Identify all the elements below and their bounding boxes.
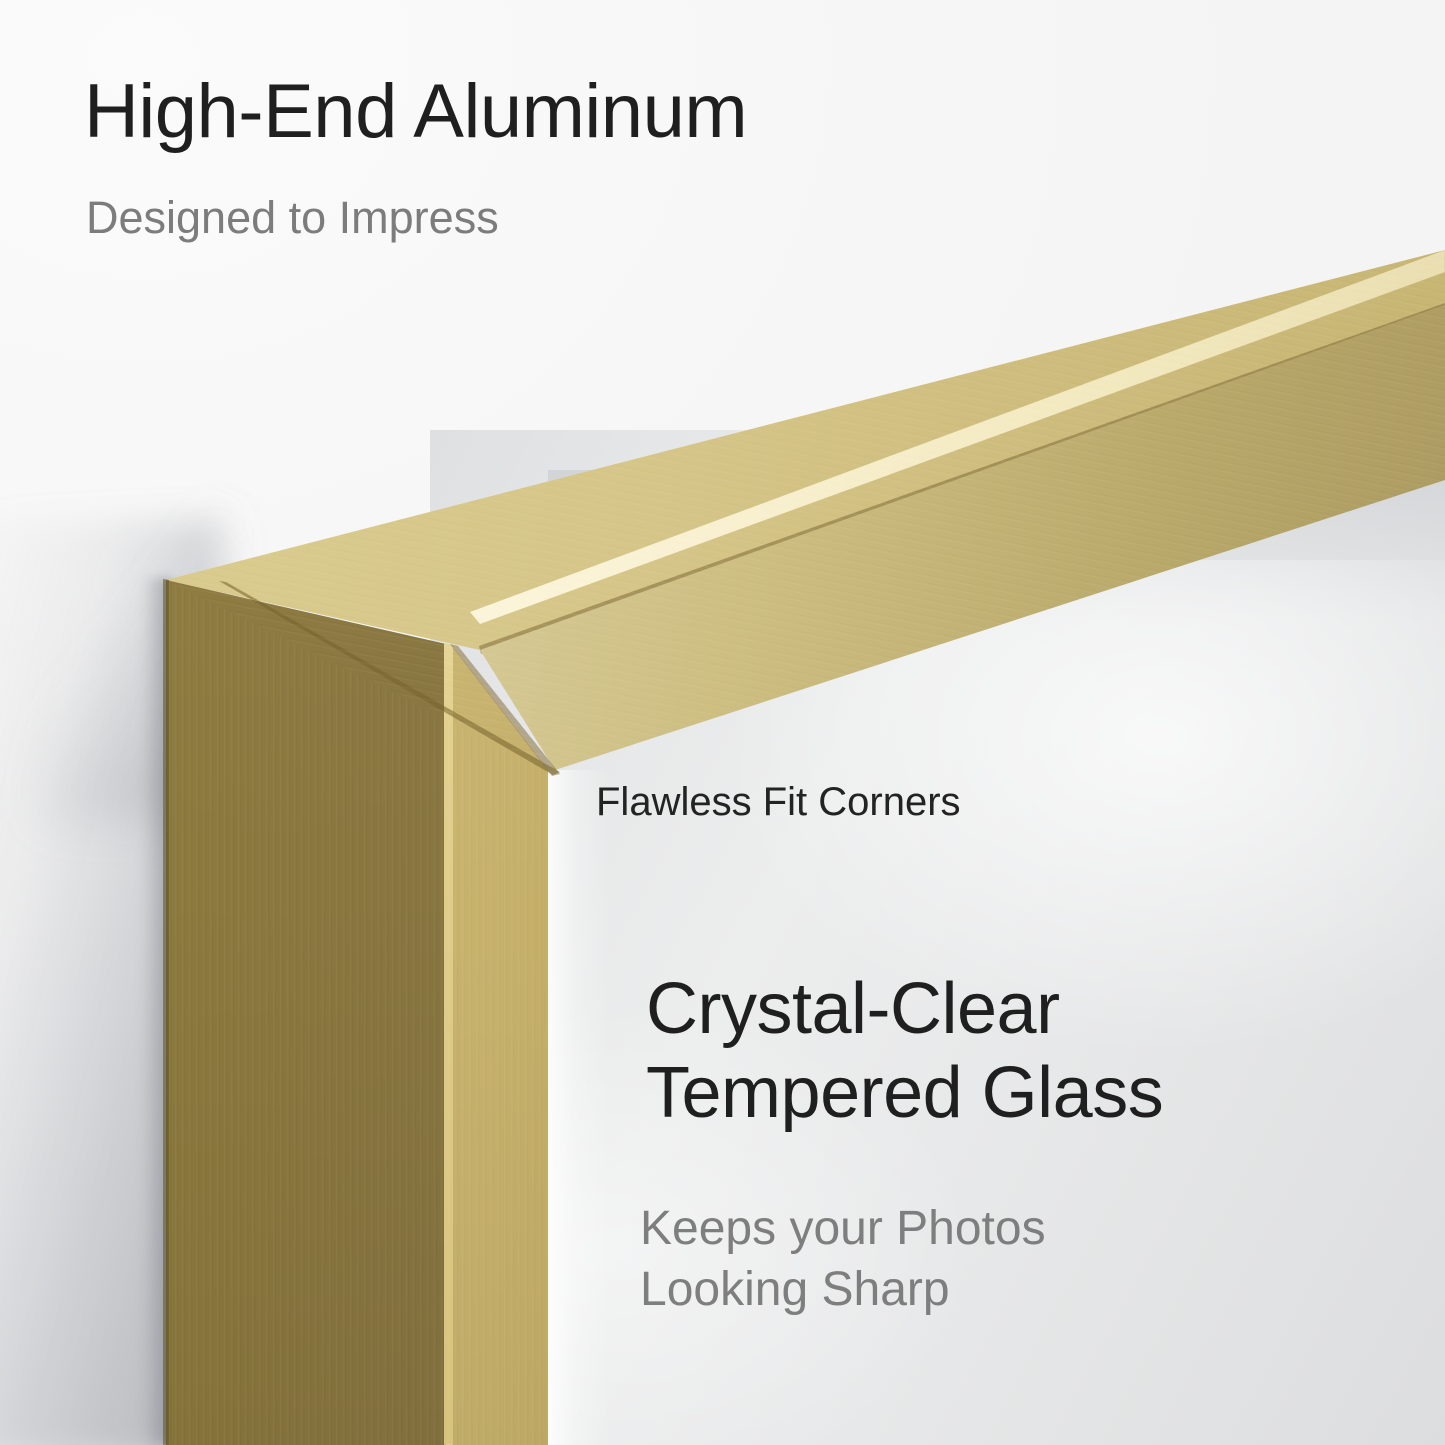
feature-heading-line-2: Tempered Glass — [646, 1052, 1163, 1136]
feature-subheading-line-1: Keeps your Photos — [640, 1202, 1046, 1255]
corner-callout-label: Flawless Fit Corners — [596, 780, 961, 824]
page-title: High-End Aluminum — [84, 72, 747, 151]
product-feature-image: High-End Aluminum Designed to Impress Fl… — [0, 0, 1445, 1445]
page-subtitle: Designed to Impress — [86, 193, 499, 243]
feature-subheading: Keeps your Photos Looking Sharp — [640, 1198, 1046, 1321]
feature-heading-line-1: Crystal-Clear — [646, 969, 1060, 1049]
feature-heading: Crystal-Clear Tempered Glass — [646, 968, 1163, 1135]
feature-subheading-line-2: Looking Sharp — [640, 1259, 1046, 1320]
